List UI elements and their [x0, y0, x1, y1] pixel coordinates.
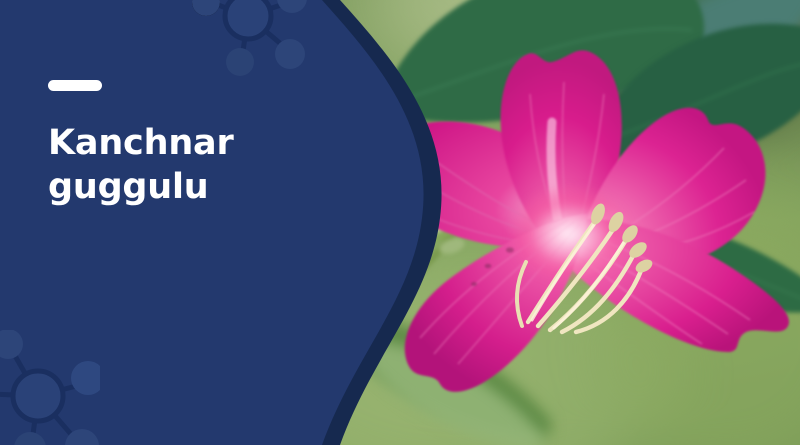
title-line-1: Kanchnar: [48, 123, 234, 163]
panel-curve-shape: [0, 0, 800, 445]
molecule-icon: [0, 330, 100, 445]
accent-dash: [48, 80, 102, 91]
title-line-2: guggulu: [48, 167, 209, 207]
banner: Kanchnar guggulu: [0, 0, 800, 445]
page-title: Kanchnar guggulu: [48, 121, 318, 210]
navy-panel: [0, 0, 800, 445]
banner-content: Kanchnar guggulu: [48, 72, 318, 210]
